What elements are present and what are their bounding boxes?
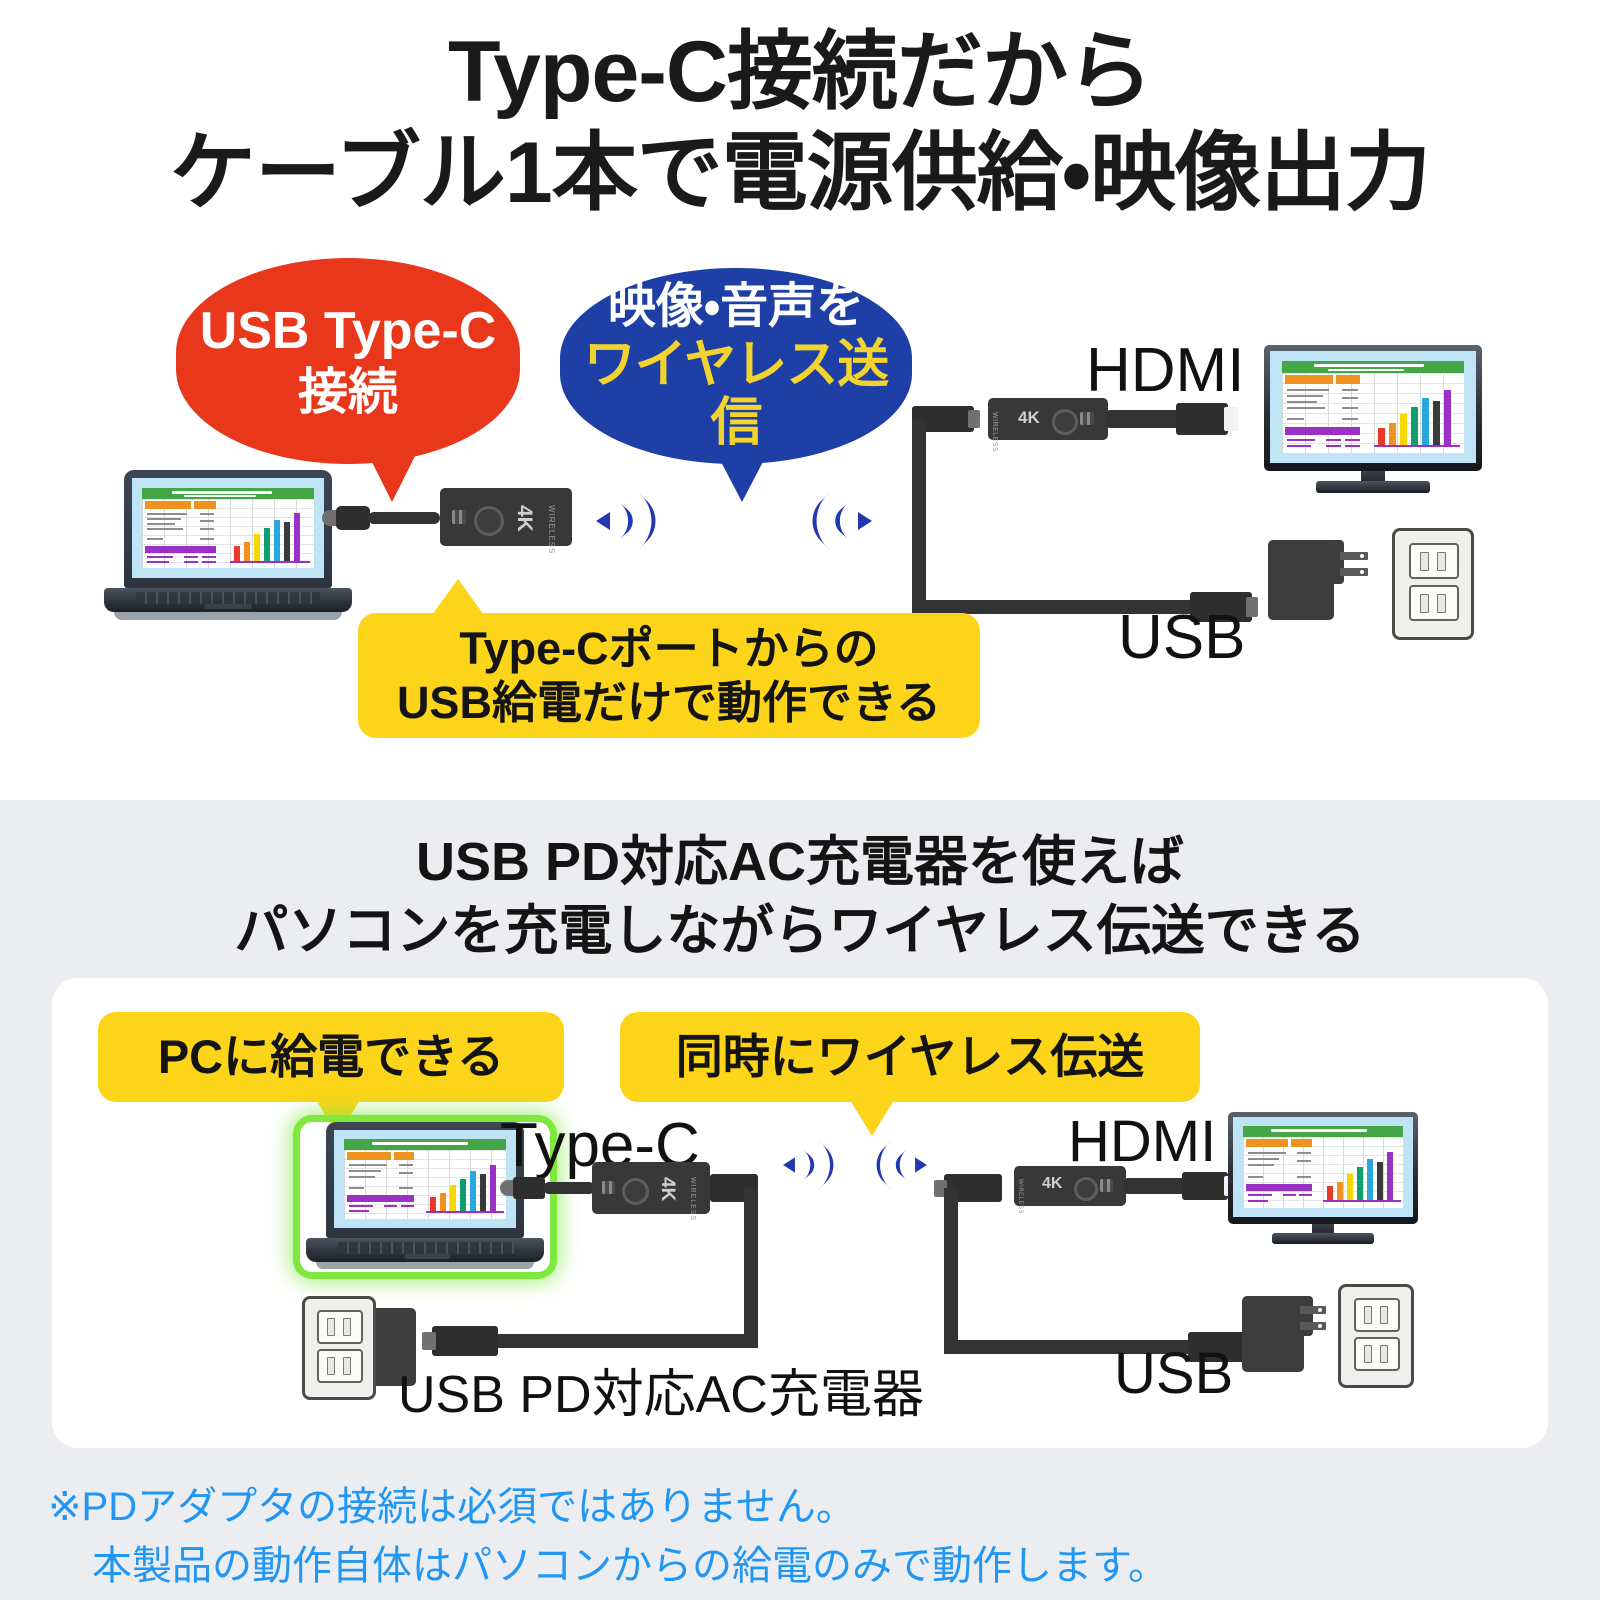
ac-adapter-section1 [1268, 540, 1334, 620]
label-usb-section1: USB [1118, 602, 1245, 673]
callout-typec-line2: USB給電だけで動作できる [397, 676, 941, 730]
label-usb-section2: USB [1114, 1340, 1233, 1407]
receiver-wireless-label: WIRELESS [991, 412, 998, 452]
callout-pc-power-label: PCに給電できる [158, 1029, 504, 1085]
cable-laptop-to-transmitter-2 [543, 1182, 595, 1194]
section2-heading-line1: USB PD対応AC充電器を使えば [0, 828, 1600, 897]
bubble-usb-typec-tail [368, 454, 416, 502]
wireless-transmitter-dongle-2: 4K WIRELESS [592, 1162, 710, 1214]
main-title-line2: ケーブル1本で電源供給・映像出力 [0, 123, 1600, 224]
dongle2-4k-label: 4K [656, 1177, 678, 1201]
adapter-prong-bottom [1340, 568, 1368, 576]
pd-cable-vertical [744, 1188, 758, 1348]
label-hdmi-section2: HDMI [1068, 1108, 1216, 1175]
cable-receiver-to-hdmi [1106, 410, 1182, 428]
callout-pc-power: PCに給電できる [98, 1012, 564, 1102]
callout-typec-line1: Type-Cポートからの [459, 622, 878, 676]
bubble-wireless-line1: 映像・音声を [608, 280, 864, 334]
dongle2-wireless-label: WIRELESS [689, 1177, 696, 1221]
cable-laptop-to-transmitter [368, 512, 440, 524]
tv-section1 [1264, 345, 1482, 495]
section2-heading: USB PD対応AC充電器を使えば パソコンを充電しながらワイヤレス伝送できる [0, 828, 1600, 966]
laptop-section1 [96, 470, 358, 622]
bubble-usb-typec: USB Type-C 接続 [176, 258, 520, 464]
callout-typec-port-power: Type-Cポートからの USB給電だけで動作できる [358, 613, 980, 738]
main-title: Type-C接続だから ケーブル1本で電源供給・映像出力 [0, 22, 1600, 225]
spreadsheet-tv-1 [1282, 361, 1464, 453]
label-usb-pd-charger: USB PD対応AC充電器 [398, 1352, 924, 1427]
adapter2-prong-top [1300, 1306, 1326, 1314]
receiver2-wireless-label: WIRELESS [1017, 1179, 1023, 1214]
wall-outlet-section2-left [302, 1296, 376, 1400]
section2-diagram: Type-C 4K WIRELESS [0, 1100, 1600, 1440]
cable-receiver-to-hdmi-2 [1124, 1178, 1186, 1194]
hdmi-connector-1 [1176, 403, 1228, 435]
label-hdmi-section1: HDMI [1086, 335, 1244, 406]
usb-cable-vertical-left [912, 420, 926, 612]
usb-cable-vertical-2 [944, 1188, 958, 1354]
bubble-usb-typec-line2: 接続 [298, 364, 398, 420]
tv-section2 [1228, 1112, 1418, 1252]
dongle-4k-label: 4K [512, 505, 536, 532]
receiver2-4k-label: 4K [1042, 1175, 1062, 1193]
hdmi-connector-2 [1182, 1172, 1228, 1200]
footnote-line2: 本製品の動作自体はパソコンからの給電のみで動作します。 [48, 1537, 1448, 1596]
adapter2-prong-bottom [1300, 1322, 1326, 1330]
bubble-wireless-tail [718, 456, 766, 502]
footnote: ※PDアダプタの接続は必須ではありません。 本製品の動作自体はパソコンからの給電… [48, 1478, 1448, 1596]
bubble-usb-typec-line1: USB Type-C [200, 302, 497, 360]
wifi-receive-icon-2 [866, 1138, 932, 1192]
main-title-line1: Type-C接続だから [0, 22, 1600, 123]
wireless-transmitter-dongle: 4K WIRELESS [440, 488, 572, 546]
callout-simultaneous-label: 同時にワイヤレス伝送 [676, 1029, 1145, 1085]
bubble-wireless-line2: ワイヤレス送信 [560, 336, 912, 452]
wifi-transmit-icon-1 [590, 490, 668, 552]
spreadsheet-laptop-2 [344, 1139, 506, 1219]
callout-typec-tail [432, 579, 484, 615]
laptop-screen-section2 [334, 1130, 516, 1228]
wifi-receive-icon-1 [800, 490, 878, 552]
spreadsheet-laptop-1 [142, 488, 314, 568]
typec-connector-body [336, 506, 370, 530]
callout-simultaneous: 同時にワイヤレス伝送 [620, 1012, 1200, 1102]
dongle-wireless-label: WIRELESS [547, 505, 556, 554]
bubble-wireless-transmit: 映像・音声を ワイヤレス送信 [560, 268, 912, 464]
footnote-line1: ※PDアダプタの接続は必須ではありません。 [48, 1478, 1448, 1537]
laptop-screen-section1 [132, 478, 324, 578]
wall-outlet-section2-right [1338, 1284, 1414, 1388]
wall-outlet-section1 [1392, 528, 1474, 640]
section2-heading-line2: パソコンを充電しながらワイヤレス伝送できる [0, 897, 1600, 966]
infographic-root: Type-C接続だから ケーブル1本で電源供給・映像出力 [0, 0, 1600, 1600]
spreadsheet-tv-2 [1243, 1126, 1403, 1208]
ac-adapter-section2-right [1242, 1296, 1304, 1372]
wifi-transmit-icon-2 [778, 1138, 844, 1192]
pd-cable-horizontal [494, 1334, 758, 1348]
adapter-prong-top [1340, 552, 1368, 560]
receiver-4k-label: 4K [1018, 408, 1040, 428]
